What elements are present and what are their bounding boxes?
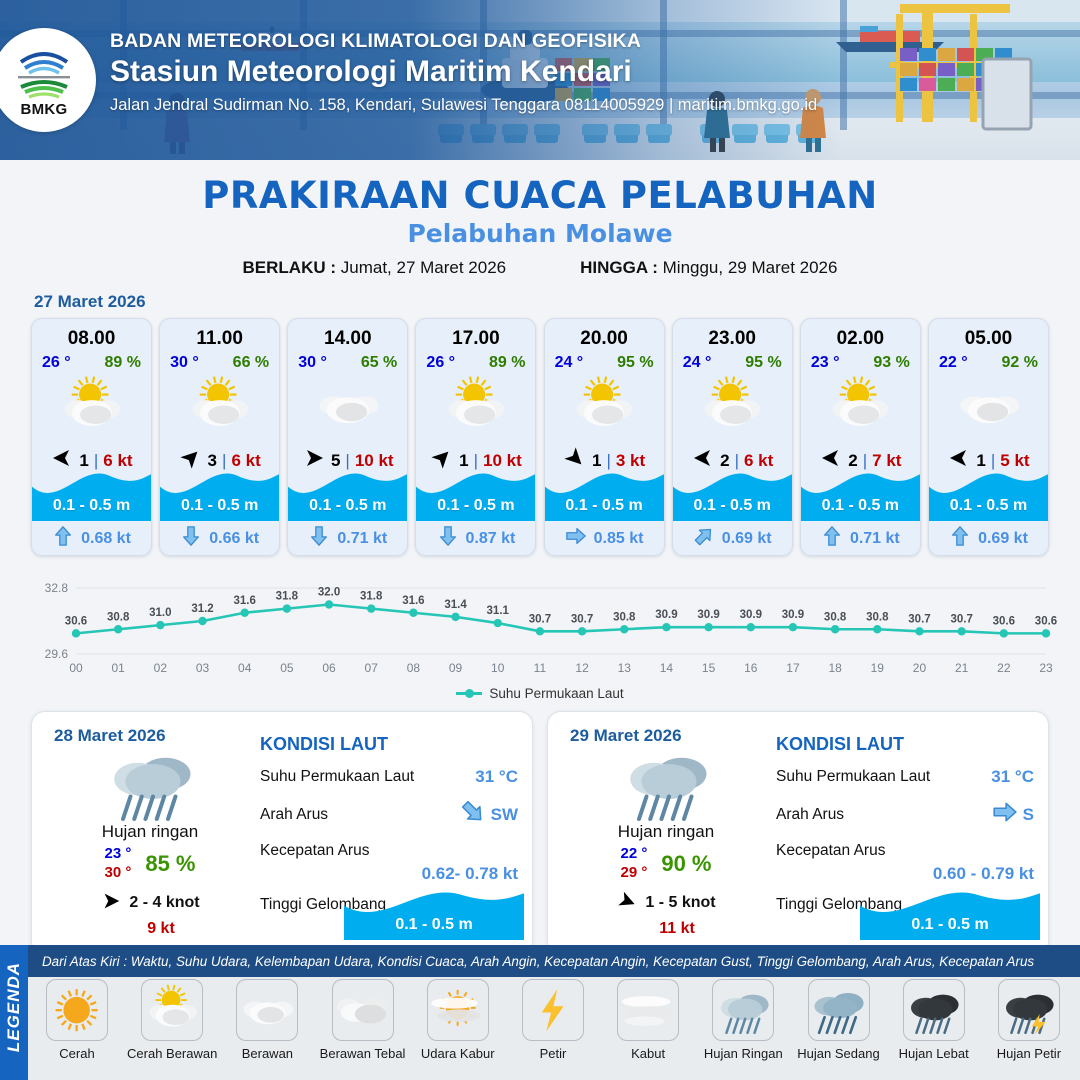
hourly-card: 20.0024 °95 %1|3 kt0.1 - 0.5 m0.85 kt: [544, 318, 665, 556]
page-title: PRAKIRAAN CUACA PELABUHAN: [0, 174, 1080, 217]
svg-text:08: 08: [407, 661, 421, 675]
svg-text:04: 04: [238, 661, 252, 675]
legend-item: Hujan Sedang: [792, 979, 886, 1061]
card-current: 0.85 kt: [545, 525, 664, 552]
current-direction-arrow-icon: [693, 525, 715, 552]
card-gust: 3 kt: [616, 451, 645, 471]
svg-text:09: 09: [449, 661, 463, 675]
card-wind-speed: 5: [331, 451, 340, 471]
svg-text:23: 23: [1039, 661, 1053, 675]
card-current-speed: 0.69 kt: [722, 530, 772, 548]
legend-item: Cerah Berawan: [125, 979, 219, 1061]
hujan-lebat-icon: [903, 979, 965, 1041]
panel-wind-range: 2 - 4 knot: [129, 894, 199, 912]
hourly-card: 17.0026 °89 %1|10 kt0.1 - 0.5 m0.87 kt: [415, 318, 536, 556]
panel-condition: Hujan ringan: [46, 822, 254, 842]
legend-item: Udara Kabur: [411, 979, 505, 1061]
card-temp-humidity: 22 °92 %: [929, 350, 1048, 372]
card-wind-speed: 1: [976, 451, 985, 471]
panel-wind: 2 - 4 knot: [46, 890, 254, 917]
cerah-berawan-icon: [416, 376, 535, 438]
valid-until-label: HINGGA :: [580, 258, 658, 277]
svg-text:30.7: 30.7: [908, 613, 930, 625]
card-wind-separator: |: [474, 451, 478, 471]
panel-temp-max: 29 °: [620, 864, 647, 883]
card-wind-speed: 3: [208, 451, 217, 471]
card-current: 0.68 kt: [32, 525, 151, 552]
cerah-berawan-icon: [160, 376, 279, 438]
card-humidity: 89 %: [489, 354, 525, 372]
card-gust: 5 kt: [1000, 451, 1029, 471]
card-wave-graphic: 0.1 - 0.5 m: [545, 469, 664, 521]
legend-label: Suhu Permukaan Laut: [489, 686, 623, 701]
card-current-speed: 0.66 kt: [209, 530, 259, 548]
panel-temps: 22 °29 °90 %: [562, 845, 770, 883]
current-direction-arrow-icon: [821, 525, 843, 552]
card-current: 0.71 kt: [801, 525, 920, 552]
card-wind-separator: |: [94, 451, 98, 471]
panel-date: 29 Maret 2026: [570, 726, 682, 746]
station-name: Stasiun Meteorologi Maritim Kendari: [110, 55, 817, 89]
svg-text:21: 21: [955, 661, 969, 675]
panel-wave-value: 0.1 - 0.5 m: [860, 916, 1040, 934]
legend-line-marker: [456, 692, 482, 695]
card-current: 0.69 kt: [673, 525, 792, 552]
card-temp-humidity: 30 °65 %: [288, 350, 407, 372]
card-temp-humidity: 23 °93 %: [801, 350, 920, 372]
legend-item: Cerah: [30, 979, 124, 1061]
station-address: Jalan Jendral Sudirman No. 158, Kendari,…: [110, 96, 817, 115]
panel-gust: 9 kt: [68, 920, 254, 938]
panel-sst-row: Suhu Permukaan Laut31 °C: [260, 767, 518, 787]
card-wave-graphic: 0.1 - 0.5 m: [929, 469, 1048, 521]
card-humidity: 92 %: [1002, 354, 1038, 372]
svg-text:30.6: 30.6: [65, 615, 87, 627]
card-humidity: 95 %: [745, 354, 781, 372]
berawan-icon: [288, 376, 407, 438]
legend-item-label: Cerah: [30, 1046, 124, 1061]
legend-caption: Dari Atas Kiri : Waktu, Suhu Udara, Kele…: [28, 945, 1080, 977]
page-banner: BMKG BADAN METEOROLOGI KLIMATOLOGI DAN G…: [0, 0, 1080, 160]
card-temp-humidity: 24 °95 %: [673, 350, 792, 372]
card-wave-height: 0.1 - 0.5 m: [160, 497, 279, 515]
legend-item: Hujan Lebat: [887, 979, 981, 1061]
svg-text:18: 18: [828, 661, 842, 675]
card-humidity: 65 %: [361, 354, 397, 372]
panel-current-dir-value: S: [1023, 805, 1034, 825]
panel-current-dir-row: Arah ArusS: [776, 799, 1034, 830]
card-wind-separator: |: [345, 451, 349, 471]
card-time: 23.00: [673, 319, 792, 350]
panel-current-speed-label: Kecepatan Arus: [260, 842, 369, 860]
card-temp-humidity: 24 °95 %: [545, 350, 664, 372]
valid-until-value: Minggu, 29 Maret 2026: [663, 258, 838, 277]
panel-humidity: 85 %: [145, 851, 195, 877]
legend-item-label: Udara Kabur: [411, 1046, 505, 1061]
panel-current-dir-value-group: SW: [460, 799, 518, 830]
panel-humidity: 90 %: [661, 851, 711, 877]
legend-items: CerahCerah BerawanBerawanBerawan TebalUd…: [30, 979, 1076, 1061]
panel-date: 28 Maret 2026: [54, 726, 166, 746]
legend-item-label: Hujan Petir: [982, 1046, 1076, 1061]
svg-text:30.7: 30.7: [529, 613, 551, 625]
svg-text:15: 15: [702, 661, 716, 675]
svg-text:30.7: 30.7: [571, 613, 593, 625]
card-current-speed: 0.68 kt: [81, 530, 131, 548]
hourly-card: 08.0026 °89 %1|6 kt0.1 - 0.5 m0.68 kt: [31, 318, 152, 556]
validity-row: BERLAKU : Jumat, 27 Maret 2026 HINGGA : …: [0, 258, 1080, 278]
panel-current-speed-label: Kecepatan Arus: [776, 842, 885, 860]
chart-legend: Suhu Permukaan Laut: [0, 686, 1080, 701]
berawan-tebal-icon: [332, 979, 394, 1041]
svg-text:30.6: 30.6: [1035, 615, 1057, 627]
svg-text:30.9: 30.9: [740, 609, 762, 621]
panel-wave-graphic: 0.1 - 0.5 m: [344, 884, 524, 940]
card-current-speed: 0.87 kt: [466, 530, 516, 548]
panel-current-dir-row: Arah ArusSW: [260, 799, 518, 830]
current-direction-arrow-icon: [180, 525, 202, 552]
cerah-berawan-icon: [141, 979, 203, 1041]
panel-sst-row: Suhu Permukaan Laut31 °C: [776, 767, 1034, 787]
svg-text:30.9: 30.9: [782, 609, 804, 621]
svg-text:05: 05: [280, 661, 294, 675]
svg-text:30.9: 30.9: [655, 609, 677, 621]
panel-sea-title: KONDISI LAUT: [776, 734, 1034, 755]
card-time: 17.00: [416, 319, 535, 350]
daily-forecast-panels: 28 Maret 2026Hujan ringan23 °30 °85 %2 -…: [0, 701, 1080, 955]
panel-temp-range: 22 °29 °: [620, 845, 647, 883]
legend-item-label: Hujan Ringan: [696, 1046, 790, 1061]
svg-text:14: 14: [660, 661, 674, 675]
arrow-s-icon: [992, 799, 1018, 830]
hourly-card: 14.0030 °65 %5|10 kt0.1 - 0.5 m0.71 kt: [287, 318, 408, 556]
card-gust: 6 kt: [231, 451, 260, 471]
card-time: 11.00: [160, 319, 279, 350]
card-wave-height: 0.1 - 0.5 m: [929, 497, 1048, 515]
panel-current-dir-label: Arah Arus: [776, 806, 844, 824]
wind-direction-arrow-icon: [616, 890, 638, 917]
card-humidity: 95 %: [617, 354, 653, 372]
hourly-card: 11.0030 °66 %3|6 kt0.1 - 0.5 m0.66 kt: [159, 318, 280, 556]
card-wind-separator: |: [606, 451, 610, 471]
card-wind-separator: |: [735, 451, 739, 471]
card-wind-separator: |: [863, 451, 867, 471]
current-direction-arrow-icon: [565, 525, 587, 552]
hourly-card: 02.0023 °93 %2|7 kt0.1 - 0.5 m0.71 kt: [800, 318, 921, 556]
card-wind-speed: 1: [459, 451, 468, 471]
svg-text:30.8: 30.8: [613, 611, 636, 623]
berawan-icon: [929, 376, 1048, 438]
svg-text:06: 06: [322, 661, 336, 675]
legend-item: Hujan Ringan: [696, 979, 790, 1061]
card-current: 0.87 kt: [416, 525, 535, 552]
card-gust: 10 kt: [355, 451, 394, 471]
wind-direction-arrow-icon: [100, 890, 122, 917]
legend-item-label: Hujan Lebat: [887, 1046, 981, 1061]
card-temp-humidity: 26 °89 %: [416, 350, 535, 372]
card-current-speed: 0.71 kt: [337, 530, 387, 548]
svg-text:00: 00: [69, 661, 83, 675]
hourly-forecast-row: 08.0026 °89 %1|6 kt0.1 - 0.5 m0.68 kt11.…: [0, 318, 1080, 556]
svg-text:30.8: 30.8: [824, 611, 847, 623]
udara-kabur-icon: [427, 979, 489, 1041]
legend-tab-label: LEGENDA: [4, 947, 24, 1067]
card-wave-graphic: 0.1 - 0.5 m: [801, 469, 920, 521]
panel-temp-max: 30 °: [104, 864, 131, 883]
svg-text:13: 13: [618, 661, 632, 675]
card-wind-separator: |: [222, 451, 226, 471]
svg-text:22: 22: [997, 661, 1011, 675]
svg-text:07: 07: [365, 661, 379, 675]
valid-from-value: Jumat, 27 Maret 2026: [341, 258, 506, 277]
svg-text:30.9: 30.9: [697, 609, 719, 621]
panel-sst-value: 31 °C: [991, 767, 1034, 787]
legend-item-label: Berawan Tebal: [316, 1046, 410, 1061]
svg-text:31.8: 31.8: [360, 591, 383, 603]
card-wind-speed: 2: [848, 451, 857, 471]
cerah-berawan-icon: [673, 376, 792, 438]
daily-forecast-panel: 28 Maret 2026Hujan ringan23 °30 °85 %2 -…: [31, 711, 533, 955]
valid-from: BERLAKU : Jumat, 27 Maret 2026: [243, 258, 507, 278]
svg-text:20: 20: [913, 661, 927, 675]
current-direction-arrow-icon: [437, 525, 459, 552]
panel-sea-title: KONDISI LAUT: [260, 734, 518, 755]
card-temperature: 23 °: [811, 354, 840, 372]
card-wind-speed: 2: [720, 451, 729, 471]
svg-text:30.8: 30.8: [866, 611, 889, 623]
card-time: 02.00: [801, 319, 920, 350]
legend-item-label: Kabut: [601, 1046, 695, 1061]
svg-text:01: 01: [111, 661, 125, 675]
hujan-petir-icon: [998, 979, 1060, 1041]
panel-wind: 1 - 5 knot: [562, 890, 770, 917]
card-current-speed: 0.85 kt: [594, 530, 644, 548]
svg-text:31.4: 31.4: [444, 599, 467, 611]
card-temperature: 30 °: [170, 354, 199, 372]
cerah-berawan-icon: [801, 376, 920, 438]
hujan-ringan-icon: [46, 746, 254, 820]
card-wind-speed: 1: [592, 451, 601, 471]
card-temp-humidity: 30 °66 %: [160, 350, 279, 372]
svg-text:02: 02: [154, 661, 168, 675]
card-humidity: 93 %: [873, 354, 909, 372]
svg-text:10: 10: [491, 661, 505, 675]
svg-text:31.8: 31.8: [276, 591, 299, 603]
svg-text:11: 11: [534, 661, 547, 675]
panel-current-dir-label: Arah Arus: [260, 806, 328, 824]
legend-item-label: Petir: [506, 1046, 600, 1061]
card-temp-humidity: 26 °89 %: [32, 350, 151, 372]
panel-sst-label: Suhu Permukaan Laut: [260, 768, 414, 786]
svg-text:29.6: 29.6: [45, 647, 69, 661]
panel-sst-label: Suhu Permukaan Laut: [776, 768, 930, 786]
legend-item: Hujan Petir: [982, 979, 1076, 1061]
panel-temp-min: 23 °: [104, 845, 131, 864]
svg-text:31.6: 31.6: [402, 595, 424, 607]
card-wave-graphic: 0.1 - 0.5 m: [673, 469, 792, 521]
hujan-sedang-icon: [808, 979, 870, 1041]
panel-wave-value: 0.1 - 0.5 m: [344, 916, 524, 934]
svg-text:32.0: 32.0: [318, 587, 340, 599]
svg-text:12: 12: [575, 661, 589, 675]
svg-text:16: 16: [744, 661, 758, 675]
card-wave-graphic: 0.1 - 0.5 m: [416, 469, 535, 521]
card-temperature: 30 °: [298, 354, 327, 372]
card-gust: 10 kt: [483, 451, 522, 471]
card-wave-height: 0.1 - 0.5 m: [673, 497, 792, 515]
card-time: 20.00: [545, 319, 664, 350]
card-gust: 6 kt: [103, 451, 132, 471]
card-wave-height: 0.1 - 0.5 m: [416, 497, 535, 515]
cerah-berawan-icon: [32, 376, 151, 438]
legend-item-label: Cerah Berawan: [125, 1046, 219, 1061]
card-temperature: 26 °: [42, 354, 71, 372]
card-time: 05.00: [929, 319, 1048, 350]
card-gust: 6 kt: [744, 451, 773, 471]
hujan-ringan-icon: [712, 979, 774, 1041]
svg-text:31.6: 31.6: [234, 595, 256, 607]
card-wave-graphic: 0.1 - 0.5 m: [288, 469, 407, 521]
agency-name: BADAN METEOROLOGI KLIMATOLOGI DAN GEOFIS…: [110, 30, 817, 53]
panel-wind-range: 1 - 5 knot: [645, 894, 715, 912]
cerah-berawan-icon: [545, 376, 664, 438]
card-temperature: 22 °: [939, 354, 968, 372]
panel-temp-min: 22 °: [620, 845, 647, 864]
card-wave-graphic: 0.1 - 0.5 m: [32, 469, 151, 521]
panel-weather-summary: Hujan ringan23 °30 °85 %2 - 4 knot9 kt: [46, 746, 254, 938]
panel-wave-graphic: 0.1 - 0.5 m: [860, 884, 1040, 940]
berawan-icon: [236, 979, 298, 1041]
valid-until: HINGGA : Minggu, 29 Maret 2026: [580, 258, 837, 278]
panel-condition: Hujan ringan: [562, 822, 770, 842]
header-text-block: BADAN METEOROLOGI KLIMATOLOGI DAN GEOFIS…: [110, 30, 817, 115]
card-current-speed: 0.71 kt: [850, 530, 900, 548]
svg-text:31.1: 31.1: [487, 605, 510, 617]
valid-from-label: BERLAKU :: [243, 258, 337, 277]
panel-current-dir-value-group: S: [992, 799, 1034, 830]
svg-text:31.2: 31.2: [191, 603, 213, 615]
card-temperature: 24 °: [683, 354, 712, 372]
bmkg-logo-art: [13, 42, 75, 100]
panel-sst-value: 31 °C: [475, 767, 518, 787]
panel-weather-summary: Hujan ringan22 °29 °90 %1 - 5 knot11 kt: [562, 746, 770, 938]
svg-text:30.6: 30.6: [993, 615, 1015, 627]
current-direction-arrow-icon: [949, 525, 971, 552]
card-wave-height: 0.1 - 0.5 m: [545, 497, 664, 515]
legend-strip: LEGENDA Dari Atas Kiri : Waktu, Suhu Uda…: [0, 945, 1080, 1080]
legend-tab: LEGENDA: [0, 945, 28, 1080]
panel-temps: 23 °30 °85 %: [46, 845, 254, 883]
legend-item: Berawan Tebal: [316, 979, 410, 1061]
hourly-card: 05.0022 °92 %1|5 kt0.1 - 0.5 m0.69 kt: [928, 318, 1049, 556]
card-current-speed: 0.69 kt: [978, 530, 1028, 548]
card-humidity: 66 %: [233, 354, 269, 372]
card-current: 0.71 kt: [288, 525, 407, 552]
sst-chart: 32.829.630.60030.80131.00231.20331.60431…: [0, 572, 1080, 684]
card-wind-speed: 1: [79, 451, 88, 471]
panel-current-speed-row: Kecepatan Arus: [776, 842, 1034, 860]
legend-item-label: Hujan Sedang: [792, 1046, 886, 1061]
hourly-date-label: 27 Maret 2026: [34, 292, 1080, 312]
panel-current-speed-row: Kecepatan Arus: [260, 842, 518, 860]
legend-item: Kabut: [601, 979, 695, 1061]
cerah-icon: [46, 979, 108, 1041]
panel-gust: 11 kt: [584, 920, 770, 938]
daily-forecast-panel: 29 Maret 2026Hujan ringan22 °29 °90 %1 -…: [547, 711, 1049, 955]
card-current: 0.69 kt: [929, 525, 1048, 552]
card-humidity: 89 %: [105, 354, 141, 372]
bmkg-logo-text: BMKG: [20, 101, 67, 118]
card-wave-height: 0.1 - 0.5 m: [288, 497, 407, 515]
card-wave-graphic: 0.1 - 0.5 m: [160, 469, 279, 521]
panel-current-dir-value: SW: [491, 805, 518, 825]
svg-text:31.0: 31.0: [149, 607, 171, 619]
card-temperature: 24 °: [555, 354, 584, 372]
svg-text:32.8: 32.8: [45, 581, 69, 595]
panel-current-speed-value: 0.62- 0.78 kt: [260, 864, 518, 884]
svg-text:17: 17: [786, 661, 800, 675]
panel-temp-range: 23 °30 °: [104, 845, 131, 883]
svg-text:30.7: 30.7: [950, 613, 972, 625]
svg-text:30.8: 30.8: [107, 611, 130, 623]
card-time: 08.00: [32, 319, 151, 350]
petir-icon: [522, 979, 584, 1041]
card-wave-height: 0.1 - 0.5 m: [801, 497, 920, 515]
title-block: PRAKIRAAN CUACA PELABUHAN Pelabuhan Mola…: [0, 160, 1080, 278]
hourly-card: 23.0024 °95 %2|6 kt0.1 - 0.5 m0.69 kt: [672, 318, 793, 556]
port-name: Pelabuhan Molawe: [0, 219, 1080, 248]
current-direction-arrow-icon: [52, 525, 74, 552]
card-wind-separator: |: [991, 451, 995, 471]
hujan-ringan-icon: [562, 746, 770, 820]
card-time: 14.00: [288, 319, 407, 350]
kabut-icon: [617, 979, 679, 1041]
card-temperature: 26 °: [426, 354, 455, 372]
svg-text:03: 03: [196, 661, 210, 675]
legend-item: Petir: [506, 979, 600, 1061]
panel-current-speed-value: 0.60 - 0.79 kt: [776, 864, 1034, 884]
legend-item: Berawan: [220, 979, 314, 1061]
card-current: 0.66 kt: [160, 525, 279, 552]
current-direction-arrow-icon: [308, 525, 330, 552]
svg-text:19: 19: [871, 661, 885, 675]
card-gust: 7 kt: [872, 451, 901, 471]
arrow-sw-icon: [460, 799, 486, 830]
card-wave-height: 0.1 - 0.5 m: [32, 497, 151, 515]
legend-item-label: Berawan: [220, 1046, 314, 1061]
